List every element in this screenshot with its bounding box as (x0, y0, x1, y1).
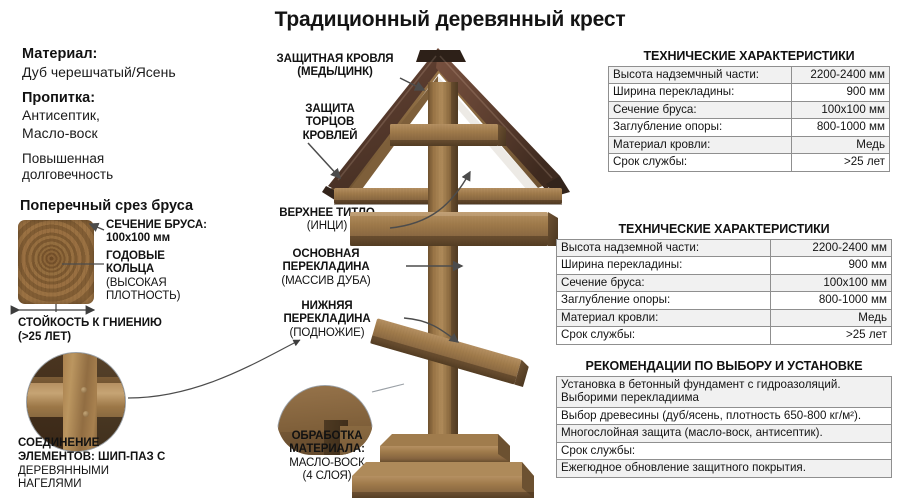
callout-joint-line3: ДЕРЕВЯННЫМИ (18, 465, 243, 479)
wooden-peg-icon (83, 411, 89, 417)
cell-label: Сечение бруса: (557, 274, 771, 291)
table-tech-1: Высота надземчный части:2200-2400 мм Шир… (608, 66, 890, 172)
callout-joint: СОЕДИНЕНИЕ ЭЛЕМЕНТОВ: ШИП-ПАЗ С ДЕРЕВЯНН… (18, 437, 243, 492)
table-row: Материал кровли:Медь (609, 136, 890, 153)
table-row: Срок службы: (557, 442, 892, 459)
cell-value: 2200-2400 мм (791, 67, 889, 84)
callout-rot-line1: СТОЙКОСТЬ К ГНИЕНИЮ (18, 317, 162, 331)
table-row: Заглубление опоры:800-1000 мм (609, 119, 890, 136)
cell-label: Сечение бруса: (609, 101, 792, 118)
table-row: Многослойная защита (масло-воск, антисеп… (557, 425, 892, 442)
table-row: Заглубление опоры:800-1000 мм (557, 292, 892, 309)
cell-value: 2200-2400 мм (770, 240, 891, 257)
callout-rot-resistance: СТОЙКОСТЬ К ГНИЕНИЮ (>25 ЛЕТ) (18, 317, 162, 344)
page-title: Традиционный деревянный крест (0, 8, 900, 32)
callout-joint-line2: ЭЛЕМЕНТОВ: ШИП-ПАЗ С (18, 451, 243, 465)
cell-value: >25 лет (770, 327, 891, 344)
left-spec-block: Материал: Дуб черешчатый/Ясень Пропитка:… (22, 46, 237, 184)
cell-label: Материал кровли: (557, 309, 771, 326)
panel-tech-1-title: ТЕХНИЧЕСКИЕ ХАРАКТЕРИСТИКИ (608, 49, 890, 63)
cell-label: Ширина перекладины: (609, 84, 792, 101)
panel-tech-2-title: ТЕХНИЧЕСКИЕ ХАРАКТЕРИСТИКИ (556, 222, 892, 236)
table-row: Высота надземчный части:2200-2400 мм (609, 67, 890, 84)
table-row: Сечение бруса:100x100 мм (557, 274, 892, 291)
table-tech-2: Высота надземной части:2200-2400 мм Шири… (556, 239, 892, 345)
beam-section-heading: Поперечный срез бруса (20, 198, 193, 214)
cell-value: 100x100 мм (770, 274, 891, 291)
cell-label: Срок службы: (609, 154, 792, 171)
upper-titlo-crossbar (390, 124, 506, 146)
callout-beam-size-line2: 100x100 мм (106, 232, 207, 245)
cell-value: 900 мм (770, 257, 891, 274)
callout-annual-rings: ГОДОВЫЕ КОЛЬЦА (ВЫСОКАЯ ПЛОТНОСТЬ) (106, 250, 180, 304)
cell-label: Высота надземчный части: (609, 67, 792, 84)
cell-value: 100x100 мм (791, 101, 889, 118)
table-recommendations: Установка в бетонный фундамент с гидроаз… (556, 376, 892, 478)
base-step-lower-top (352, 462, 534, 476)
spec-value-impregnation: Антисептик, Масло-воск (22, 107, 237, 141)
table-row: Сечение бруса:100x100 мм (609, 101, 890, 118)
cell-label: Многослойная защита (масло-воск, антисеп… (557, 425, 892, 442)
spec-value-material: Дуб черешчатый/Ясень (22, 64, 237, 81)
callout-joint-line4: НАГЕЛЯМИ (18, 478, 243, 492)
table-row: Срок службы:>25 лет (557, 327, 892, 344)
base-step-upper (380, 446, 510, 462)
cross-base (352, 434, 534, 498)
table-row: Материал кровли:Медь (557, 309, 892, 326)
cell-label: Материал кровли: (609, 136, 792, 153)
main-crossbar (350, 212, 558, 246)
roof-seam-left (338, 56, 436, 180)
cell-label: Срок службы: (557, 442, 892, 459)
beam-cross-section-image (18, 220, 94, 304)
cell-label: Заглубление опоры: (557, 292, 771, 309)
callout-rings-sub2: ПЛОТНОСТЬ) (106, 290, 180, 303)
cell-label: Высота надземной части: (557, 240, 771, 257)
panel-technical-specs-2: ТЕХНИЧЕСКИЕ ХАРАКТЕРИСТИКИ Высота надзем… (556, 222, 892, 345)
cell-value: 800-1000 мм (791, 119, 889, 136)
table-row: Ширина перекладины:900 мм (609, 84, 890, 101)
cell-value: Медь (770, 309, 891, 326)
table-row: Срок службы:>25 лет (609, 154, 890, 171)
callout-joint-line1: СОЕДИНЕНИЕ (18, 437, 243, 451)
table-row: Установка в бетонный фундамент с гидроаз… (557, 377, 892, 408)
callout-rings-line2: КОЛЬЦА (106, 263, 180, 276)
callout-rot-line2: (>25 ЛЕТ) (18, 331, 162, 345)
cell-value: 900 мм (791, 84, 889, 101)
cell-label: Срок службы: (557, 327, 771, 344)
callout-beam-size: СЕЧЕНИЕ БРУСА: 100x100 мм (106, 219, 207, 246)
cell-value: Медь (791, 136, 889, 153)
cell-label: Ежегюдное обновление защитного покрытия. (557, 460, 892, 477)
wooden-peg-icon (81, 387, 87, 393)
table-row: Ежегюдное обновление защитного покрытия. (557, 460, 892, 477)
panel-technical-specs-1: ТЕХНИЧЕСКИЕ ХАРАКТЕРИСТИКИ Высота надзем… (608, 49, 890, 172)
base-step-upper-top (380, 434, 510, 446)
table-row: Высота надземной части:2200-2400 мм (557, 240, 892, 257)
callout-beam-size-line1: СЕЧЕНИЕ БРУСА: (106, 219, 207, 232)
cell-label: Выбор древесины (дуб/ясень, плотность 65… (557, 407, 892, 424)
cell-label: Заглубление опоры: (609, 119, 792, 136)
callout-rings-sub1: (ВЫСОКАЯ (106, 277, 180, 290)
callout-rings-line1: ГОДОВЫЕ (106, 250, 180, 263)
cell-label: Установка в бетонный фундамент с гидроаз… (557, 377, 892, 408)
cell-value: >25 лет (791, 154, 889, 171)
spec-note-durability: Повышенная долговечность (22, 151, 237, 184)
panel-reco-title: РЕКОМЕНДАЦИИ ПО ВЫБОРУ И УСТАНОВКЕ (556, 359, 892, 373)
table-row: Ширина перекладины:900 мм (557, 257, 892, 274)
leader-joint-detail (128, 340, 300, 398)
table-row: Выбор древесины (дуб/ясень, плотность 65… (557, 407, 892, 424)
spec-label-material: Материал: (22, 46, 237, 64)
spec-label-impregnation: Пропитка: (22, 90, 237, 108)
panel-recommendations: РЕКОМЕНДАЦИИ ПО ВЫБОРУ И УСТАНОВКЕ Устан… (556, 359, 892, 478)
cell-label: Ширина перекладины: (557, 257, 771, 274)
cell-value: 800-1000 мм (770, 292, 891, 309)
wooden-cross-illustration (320, 42, 580, 502)
infographic-page: Традиционный деревянный крест Материал: … (0, 0, 900, 502)
